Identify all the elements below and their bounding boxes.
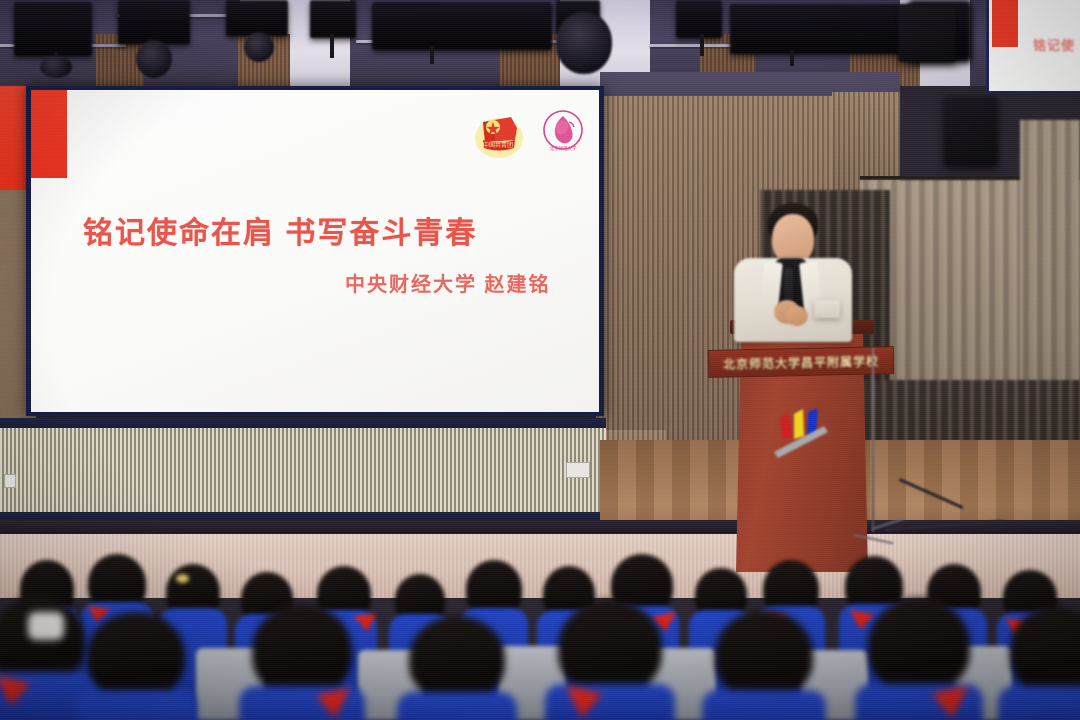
lectern-nameplate: 北京师范大学昌平附属学校 [708,346,895,378]
list-item [86,612,186,720]
stage-light-fixture [730,4,912,54]
school-badge-emblem [768,396,834,462]
list-item [866,598,972,720]
stage-light-fixture [118,0,190,44]
face-mask [28,612,64,640]
list-item [250,604,354,720]
presenter-hand [786,306,808,326]
communist-youth-league-emblem: 中国共青团 [471,106,527,162]
slide-accent-bar [31,90,67,178]
pa-speaker-box [944,96,998,166]
presenter-jacket-pocket [814,300,840,318]
list-item [714,610,814,720]
acoustic-wall-panel [0,428,606,516]
stage-light-fixture [676,0,722,38]
pa-speaker-box [898,6,956,62]
side-display-screen: 铭记使 [986,0,1080,94]
side-screen-accent-bar [992,0,1018,47]
stage-light-fixture [310,0,356,38]
svg-text:北京师范大学: 北京师范大学 [550,145,577,152]
projection-screen-surface: 中国共青团 北京师范大学 铭记使命在肩 书写奋斗青春 中央财经大学 赵建铭 [31,90,599,412]
stage-light-fixture [14,2,92,56]
school-circular-emblem: 北京师范大学 [539,108,587,156]
auditorium-photo: 铭记使 中国共青团 北京师范大学 [0,0,1080,720]
list-item [408,616,506,720]
side-screen-slide-text: 铭记使 [1033,35,1075,54]
wall-outlet [4,474,16,488]
slide-subtitle: 中央财经大学 赵建铭 [345,268,551,297]
stage-light-fixture [372,2,552,50]
lectern-nameplate-text: 北京师范大学昌平附属学校 [723,352,879,372]
slide-title: 铭记使命在肩 书写奋斗青春 [83,208,477,252]
svg-text:中国共青团: 中国共青团 [483,141,513,149]
wall-outlet [566,462,590,478]
stage-light-fixture [226,0,288,36]
microphone-stand [872,348,874,532]
list-item [1008,606,1080,720]
list-item [556,600,664,720]
